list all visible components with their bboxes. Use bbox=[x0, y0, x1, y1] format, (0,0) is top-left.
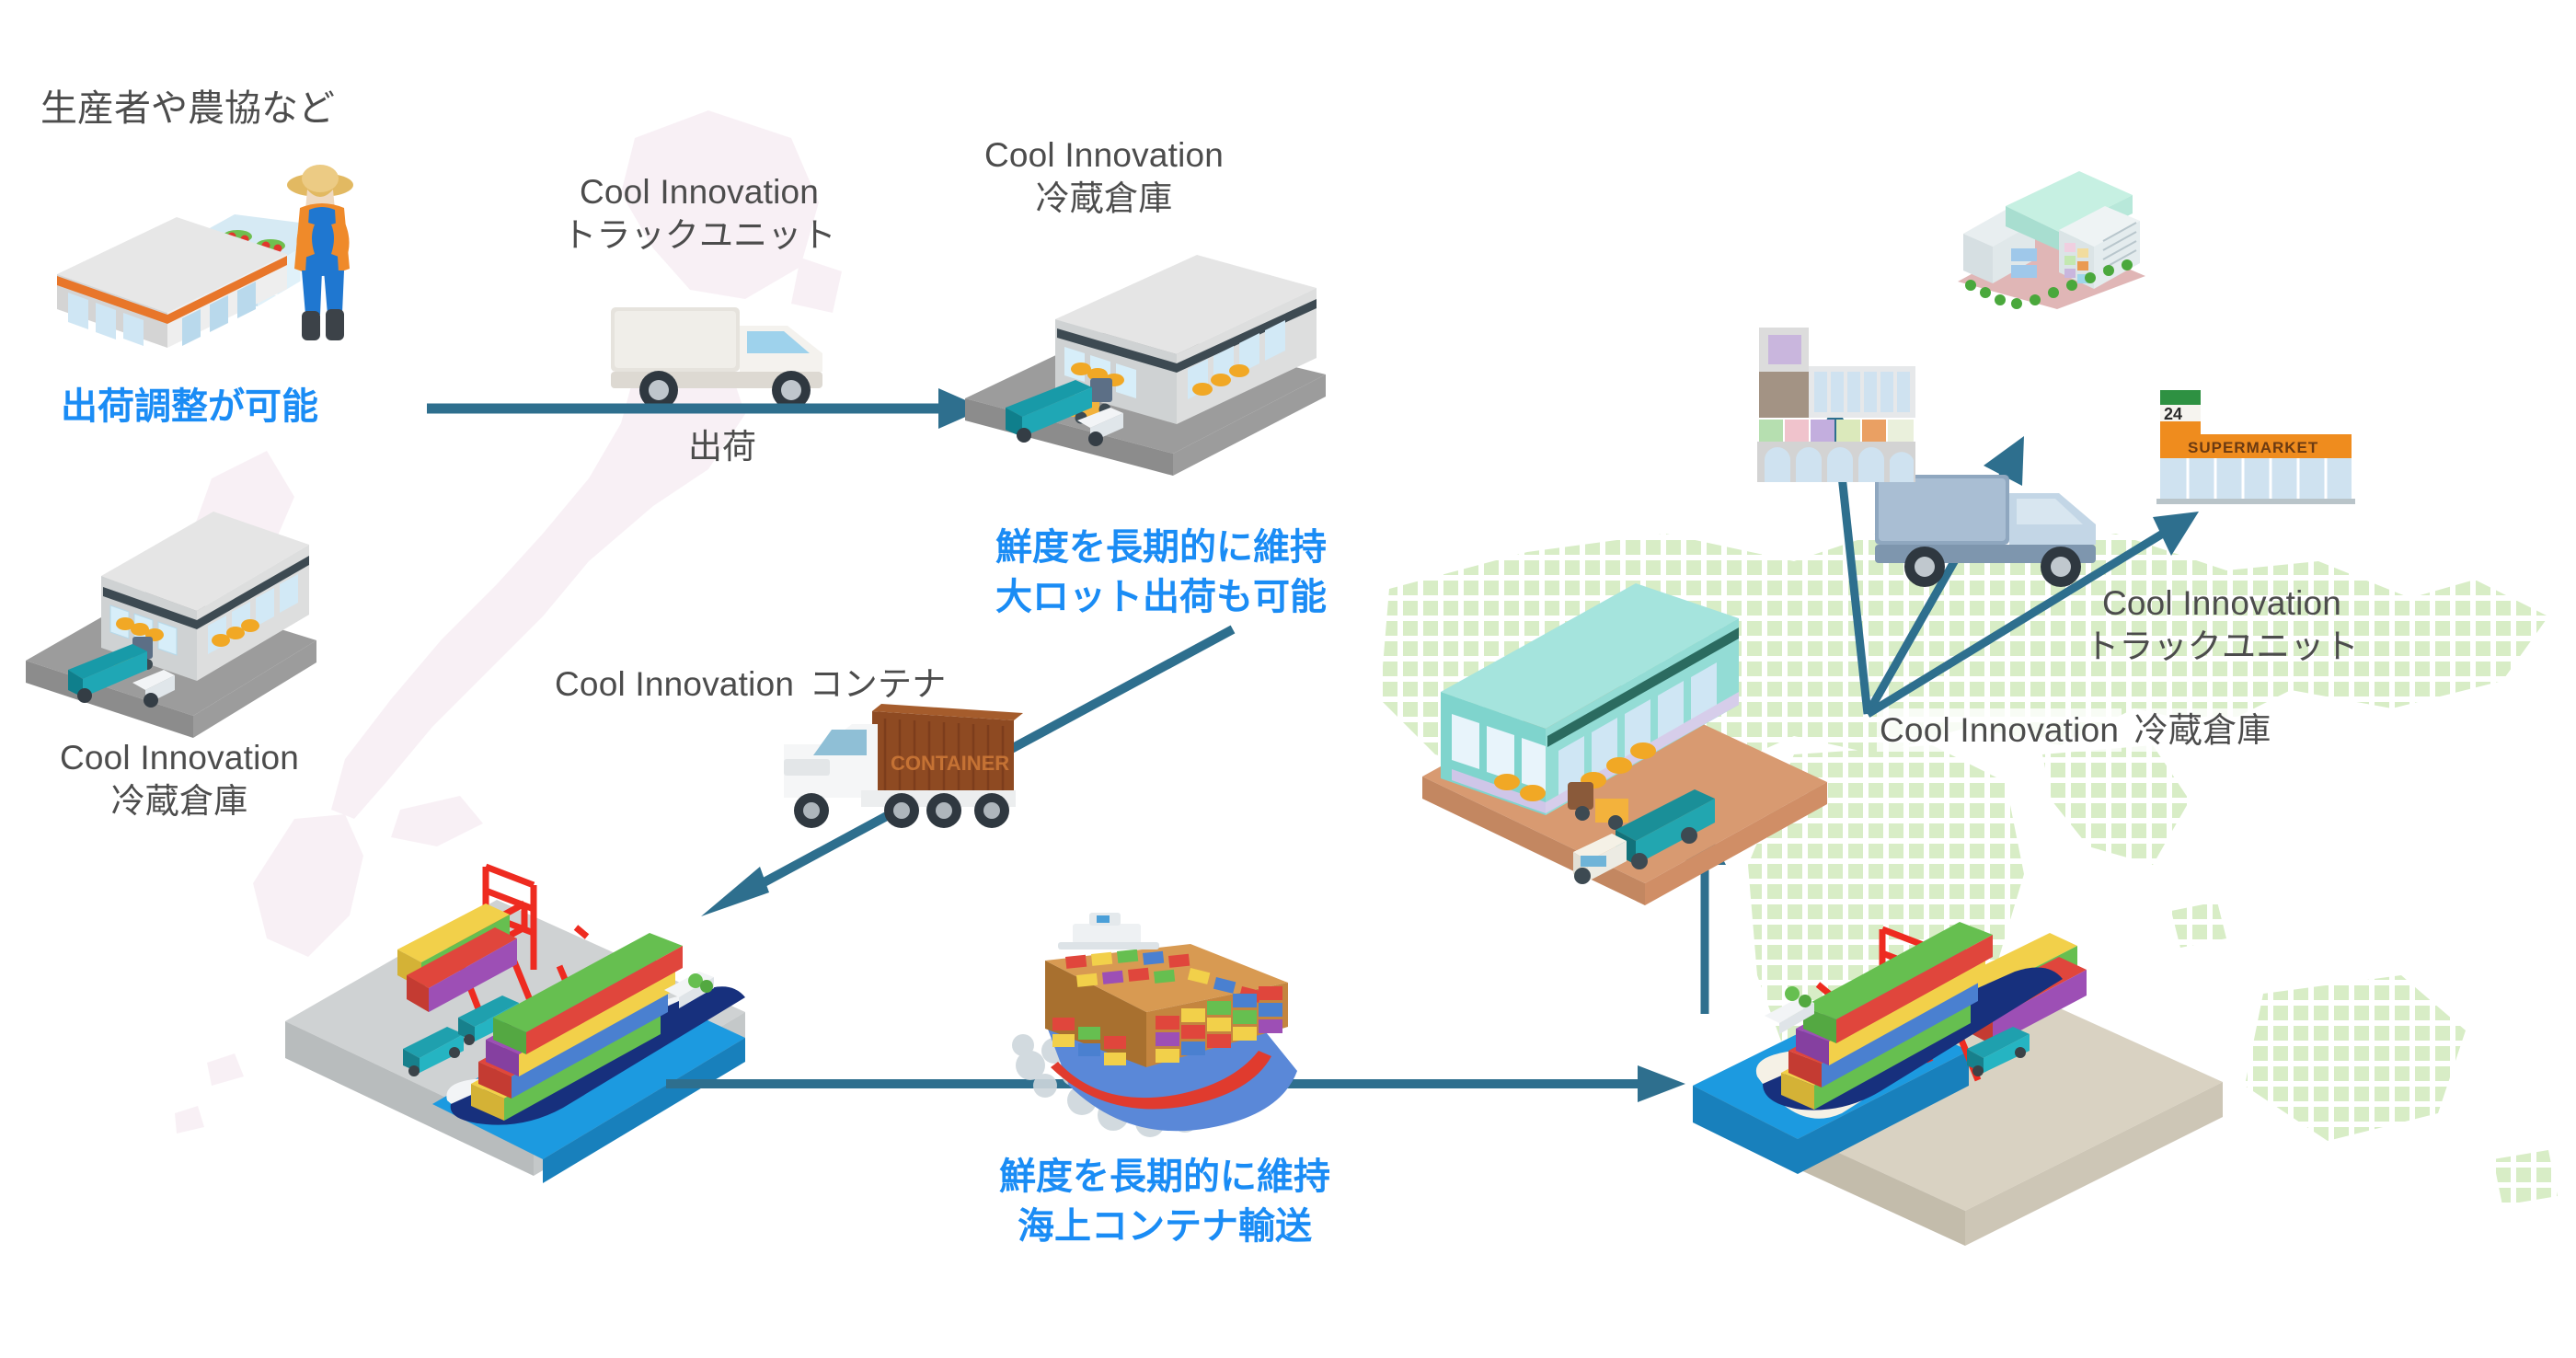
svg-text:CONTAINER: CONTAINER bbox=[891, 752, 1009, 775]
warehouse-jp-top-line2: 冷蔵倉庫 bbox=[920, 177, 1288, 220]
container-jp-line1: Cool Innovation bbox=[552, 662, 797, 706]
storefront-icon bbox=[1754, 322, 1919, 488]
cold-warehouse-top-icon bbox=[952, 235, 1339, 483]
warehouse-jp-left-line1: Cool Innovation bbox=[37, 736, 322, 779]
freshness-lot-line1: 鮮度を長期的に維持 bbox=[995, 523, 1327, 572]
warehouse-jp-top-line1: Cool Innovation bbox=[920, 133, 1288, 177]
port-icon bbox=[267, 828, 837, 1214]
port-overseas-icon bbox=[1674, 902, 2245, 1270]
supermarket-sign-text: SUPERMARKET bbox=[2188, 439, 2318, 456]
shipment-arrow-label: 出荷 bbox=[688, 419, 756, 468]
shipping-adjust-line1: 出荷調整が可能 bbox=[61, 382, 318, 432]
truck-unit-jp-line1: Cool Innovation bbox=[543, 170, 856, 213]
producer-heading: 生産者や農協など bbox=[40, 78, 335, 132]
freshness-lot-line2: 大ロット出荷も可能 bbox=[995, 572, 1327, 622]
freshness-sea-text: 鮮度を長期的に維持 海上コンテナ輸送 bbox=[999, 1152, 1330, 1251]
truck-unit-overseas-line2: トラックユニット bbox=[2038, 625, 2406, 668]
shipping-adjust-text: 出荷調整が可能 bbox=[61, 382, 318, 432]
diagram-canvas: 生産者や農協など bbox=[0, 0, 2576, 1358]
barn-icon bbox=[48, 201, 296, 352]
container-truck-icon: CONTAINER bbox=[764, 695, 1030, 842]
freshness-sea-line1: 鮮度を長期的に維持 bbox=[999, 1152, 1330, 1202]
cold-warehouse-icon bbox=[13, 486, 326, 753]
truck-unit-overseas-label: Cool Innovation トラックユニット bbox=[2038, 581, 2406, 669]
truck-unit-jp-line2: トラックユニット bbox=[543, 213, 856, 257]
warehouse-jp-left-line2: 冷蔵倉庫 bbox=[37, 779, 322, 823]
shopping-center-icon bbox=[1950, 175, 2153, 313]
supermarket-icon: 24 SUPERMARKET bbox=[2134, 386, 2364, 506]
warehouse-jp-top-label: Cool Innovation 冷蔵倉庫 bbox=[920, 133, 1288, 221]
warehouse-jp-left-label: Cool Innovation 冷蔵倉庫 bbox=[37, 736, 322, 823]
truck-unit-jp-label: Cool Innovation トラックユニット bbox=[543, 170, 856, 258]
truck-unit-overseas-line1: Cool Innovation bbox=[2038, 581, 2406, 625]
supermarket-hours-text: 24 bbox=[2164, 405, 2182, 423]
cargo-ship-icon bbox=[994, 911, 1334, 1150]
freshness-sea-line2: 海上コンテナ輸送 bbox=[999, 1202, 1330, 1251]
freshness-lot-text: 鮮度を長期的に維持 大ロット出荷も可能 bbox=[995, 523, 1327, 622]
